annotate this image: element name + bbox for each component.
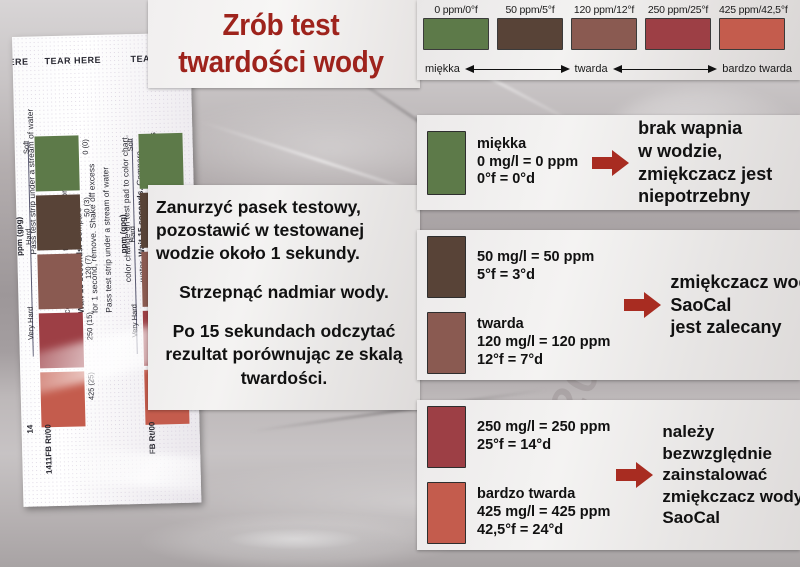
scale-caption-4: 425 ppm/42,5°f [719,4,785,16]
strip-value-120: 120 (7) [83,255,93,279]
legend-label-soft: miękka [425,63,460,75]
strip-value-50: 50 (3) [82,197,91,217]
result-row: bardzo twarda 425 mg/l = 425 ppm 42,5°f … [427,482,610,544]
poster-root: 250 200 ERE TEAR HERE TEAR HE Pass test … [0,0,800,567]
arrow-left-icon [465,65,474,73]
scale-item-1: 50 ppm/5°f [497,4,563,50]
result-swatch [427,406,466,468]
scale-item-2: 120 ppm/12°f [571,4,637,50]
result-rows: 250 mg/l = 250 ppm 25°f = 14°d bardzo tw… [427,406,610,544]
result-row-fd: 12°f = 7°d [477,352,610,370]
title-panel: Zrób test twardości wody [148,0,420,88]
strip-code-partial: 14 [25,425,34,434]
legend-label-hard: twarda [575,63,608,75]
advice-line: bezwzględnie [662,443,800,464]
strip-axis-label-b: ppm (gpg) [118,214,128,253]
result-panel-hard: 50 mg/l = 50 ppm 5°f = 3°d twarda 120 mg… [417,230,800,380]
scale-caption-3: 250 ppm/25°f [645,4,711,16]
arrow-right-icon [616,460,654,490]
scale-caption-0: 0 ppm/0°f [423,4,489,16]
advice-line: zmiękczacz wody [670,271,800,294]
tear-here-label: TEAR HERE [44,55,101,66]
arrow-left-icon [613,65,622,73]
scale-caption-2: 120 ppm/12°f [571,4,637,16]
result-advice: zmiękczacz wody SaoCal jest zalecany [670,271,800,339]
strip-mark-soft: Soft [22,141,31,155]
arrow-right-icon [624,290,662,320]
result-row-text: 250 mg/l = 250 ppm 25°f = 14°d [477,419,610,454]
result-row-mgl: 0 mg/l = 0 ppm [477,154,578,172]
advice-line: brak wapnia [638,117,772,140]
result-swatch [427,312,466,374]
result-row-text: miękka 0 mg/l = 0 ppm 0°f = 0°d [477,136,578,189]
strip-code: FB Rt/00 [147,422,157,455]
result-row-fd: 0°f = 0°d [477,171,578,189]
strip-mark-hard: Hard [24,229,33,245]
legend-arrow-hard-to-very-hard [613,64,718,75]
scale-swatch-1 [497,18,563,50]
hardness-scale-panel: 0 ppm/0°f 50 ppm/5°f 120 ppm/12°f 250 pp… [417,0,800,80]
result-row-fd: 5°f = 3°d [477,267,594,285]
arrow-right-icon [708,65,717,73]
strip-pad-120 [37,253,82,309]
advice-line: należy [662,421,800,442]
result-swatch [427,482,466,544]
result-row: 50 mg/l = 50 ppm 5°f = 3°d [427,236,610,298]
page-title: Zrób test twardości wody [161,7,400,80]
result-swatch [427,131,466,195]
advice-line: niepotrzebny [638,185,772,208]
result-row: miękka 0 mg/l = 0 ppm 0°f = 0°d [427,131,578,195]
result-advice: brak wapnia w wodzie, zmiękczacz jest ni… [638,117,772,208]
instructions-panel: Zanurzyć pasek testowy, pozostawić w tes… [148,185,420,410]
result-content: miękka 0 mg/l = 0 ppm 0°f = 0°d brak wap… [417,115,800,210]
advice-line: SaoCal [662,507,800,528]
title-line-2: twardości wody [161,44,400,81]
arrow-right-icon [592,148,630,178]
scale-swatch-4 [719,18,785,50]
result-row-text: 50 mg/l = 50 ppm 5°f = 3°d [477,249,594,284]
scale-swatch-3 [645,18,711,50]
strip-mark-very-hard: Very Hard [26,307,36,341]
advice-line: w wodzie, [638,140,772,163]
result-row-text: bardzo twarda 425 mg/l = 425 ppm 42,5°f … [477,486,610,539]
instruction-step-2: Strzepnąć nadmiar wody. [156,281,412,304]
result-row-text: twarda 120 mg/l = 120 ppm 12°f = 7°d [477,316,610,369]
tear-here-label: ERE [12,57,29,67]
result-advice: należy bezwzględnie zainstalować zmiękcz… [662,421,800,528]
legend-arrow-soft-to-hard [465,64,570,75]
result-row-name: miękka [477,136,578,154]
result-row-mgl: 120 mg/l = 120 ppm [477,334,610,352]
result-swatch [427,236,466,298]
result-row-mgl: 425 mg/l = 425 ppm [477,504,610,522]
advice-line: zainstalować [662,464,800,485]
strip-code: 1411FB Rt/00 [43,424,53,474]
result-row-mgl: 50 mg/l = 50 ppm [477,249,594,267]
result-content: 250 mg/l = 250 ppm 25°f = 14°d bardzo tw… [417,400,800,550]
strip-pad-0 [34,135,79,191]
strip-pad-50 [36,194,81,250]
instruction-step-1: Zanurzyć pasek testowy, pozostawić w tes… [156,196,412,265]
strip-mark-hard: Hard [128,226,137,242]
title-line-1: Zrób test [161,7,400,44]
advice-line: zmiękczacz jest [638,163,772,186]
result-content: 50 mg/l = 50 ppm 5°f = 3°d twarda 120 mg… [417,230,800,380]
scale-item-4: 425 ppm/42,5°f [719,4,785,50]
advice-line: SaoCal [670,294,800,317]
strip-mark-soft: Soft [126,138,135,152]
result-row-name: bardzo twarda [477,486,610,504]
result-row-mgl: 250 mg/l = 250 ppm [477,419,610,437]
result-row-fd: 25°f = 14°d [477,437,610,455]
scale-item-3: 250 ppm/25°f [645,4,711,50]
instruction-step-3: Po 15 sekundach odczytać rezultat porówn… [156,320,412,389]
advice-line: jest zalecany [670,316,800,339]
result-row-fd: 42,5°f = 24°d [477,522,610,540]
scale-caption-1: 50 ppm/5°f [497,4,563,16]
hardness-scale-swatches: 0 ppm/0°f 50 ppm/5°f 120 ppm/12°f 250 pp… [423,4,785,50]
result-row-name: twarda [477,316,610,334]
result-panel-soft: miękka 0 mg/l = 0 ppm 0°f = 0°d brak wap… [417,115,800,210]
legend-label-very-hard: bardzo twarda [722,63,792,75]
instructions-text: Zanurzyć pasek testowy, pozostawić w tes… [156,196,412,406]
result-row: 250 mg/l = 250 ppm 25°f = 14°d [427,406,610,468]
scale-swatch-0 [423,18,489,50]
result-row: twarda 120 mg/l = 120 ppm 12°f = 7°d [427,312,610,374]
arrow-right-icon [561,65,570,73]
result-rows: 50 mg/l = 50 ppm 5°f = 3°d twarda 120 mg… [427,236,610,374]
hardness-scale-legend: miękka twarda bardzo twarda [425,62,792,76]
scale-item-0: 0 ppm/0°f [423,4,489,50]
result-rows: miękka 0 mg/l = 0 ppm 0°f = 0°d [427,131,578,195]
scale-swatch-2 [571,18,637,50]
strip-value-0: 0 (0) [81,139,90,155]
advice-line: zmiękczacz wody [662,486,800,507]
strip-value-250: 250 (15) [85,312,95,340]
result-panel-very-hard: 250 mg/l = 250 ppm 25°f = 14°d bardzo tw… [417,400,800,550]
strip-pad-0 [138,133,183,189]
